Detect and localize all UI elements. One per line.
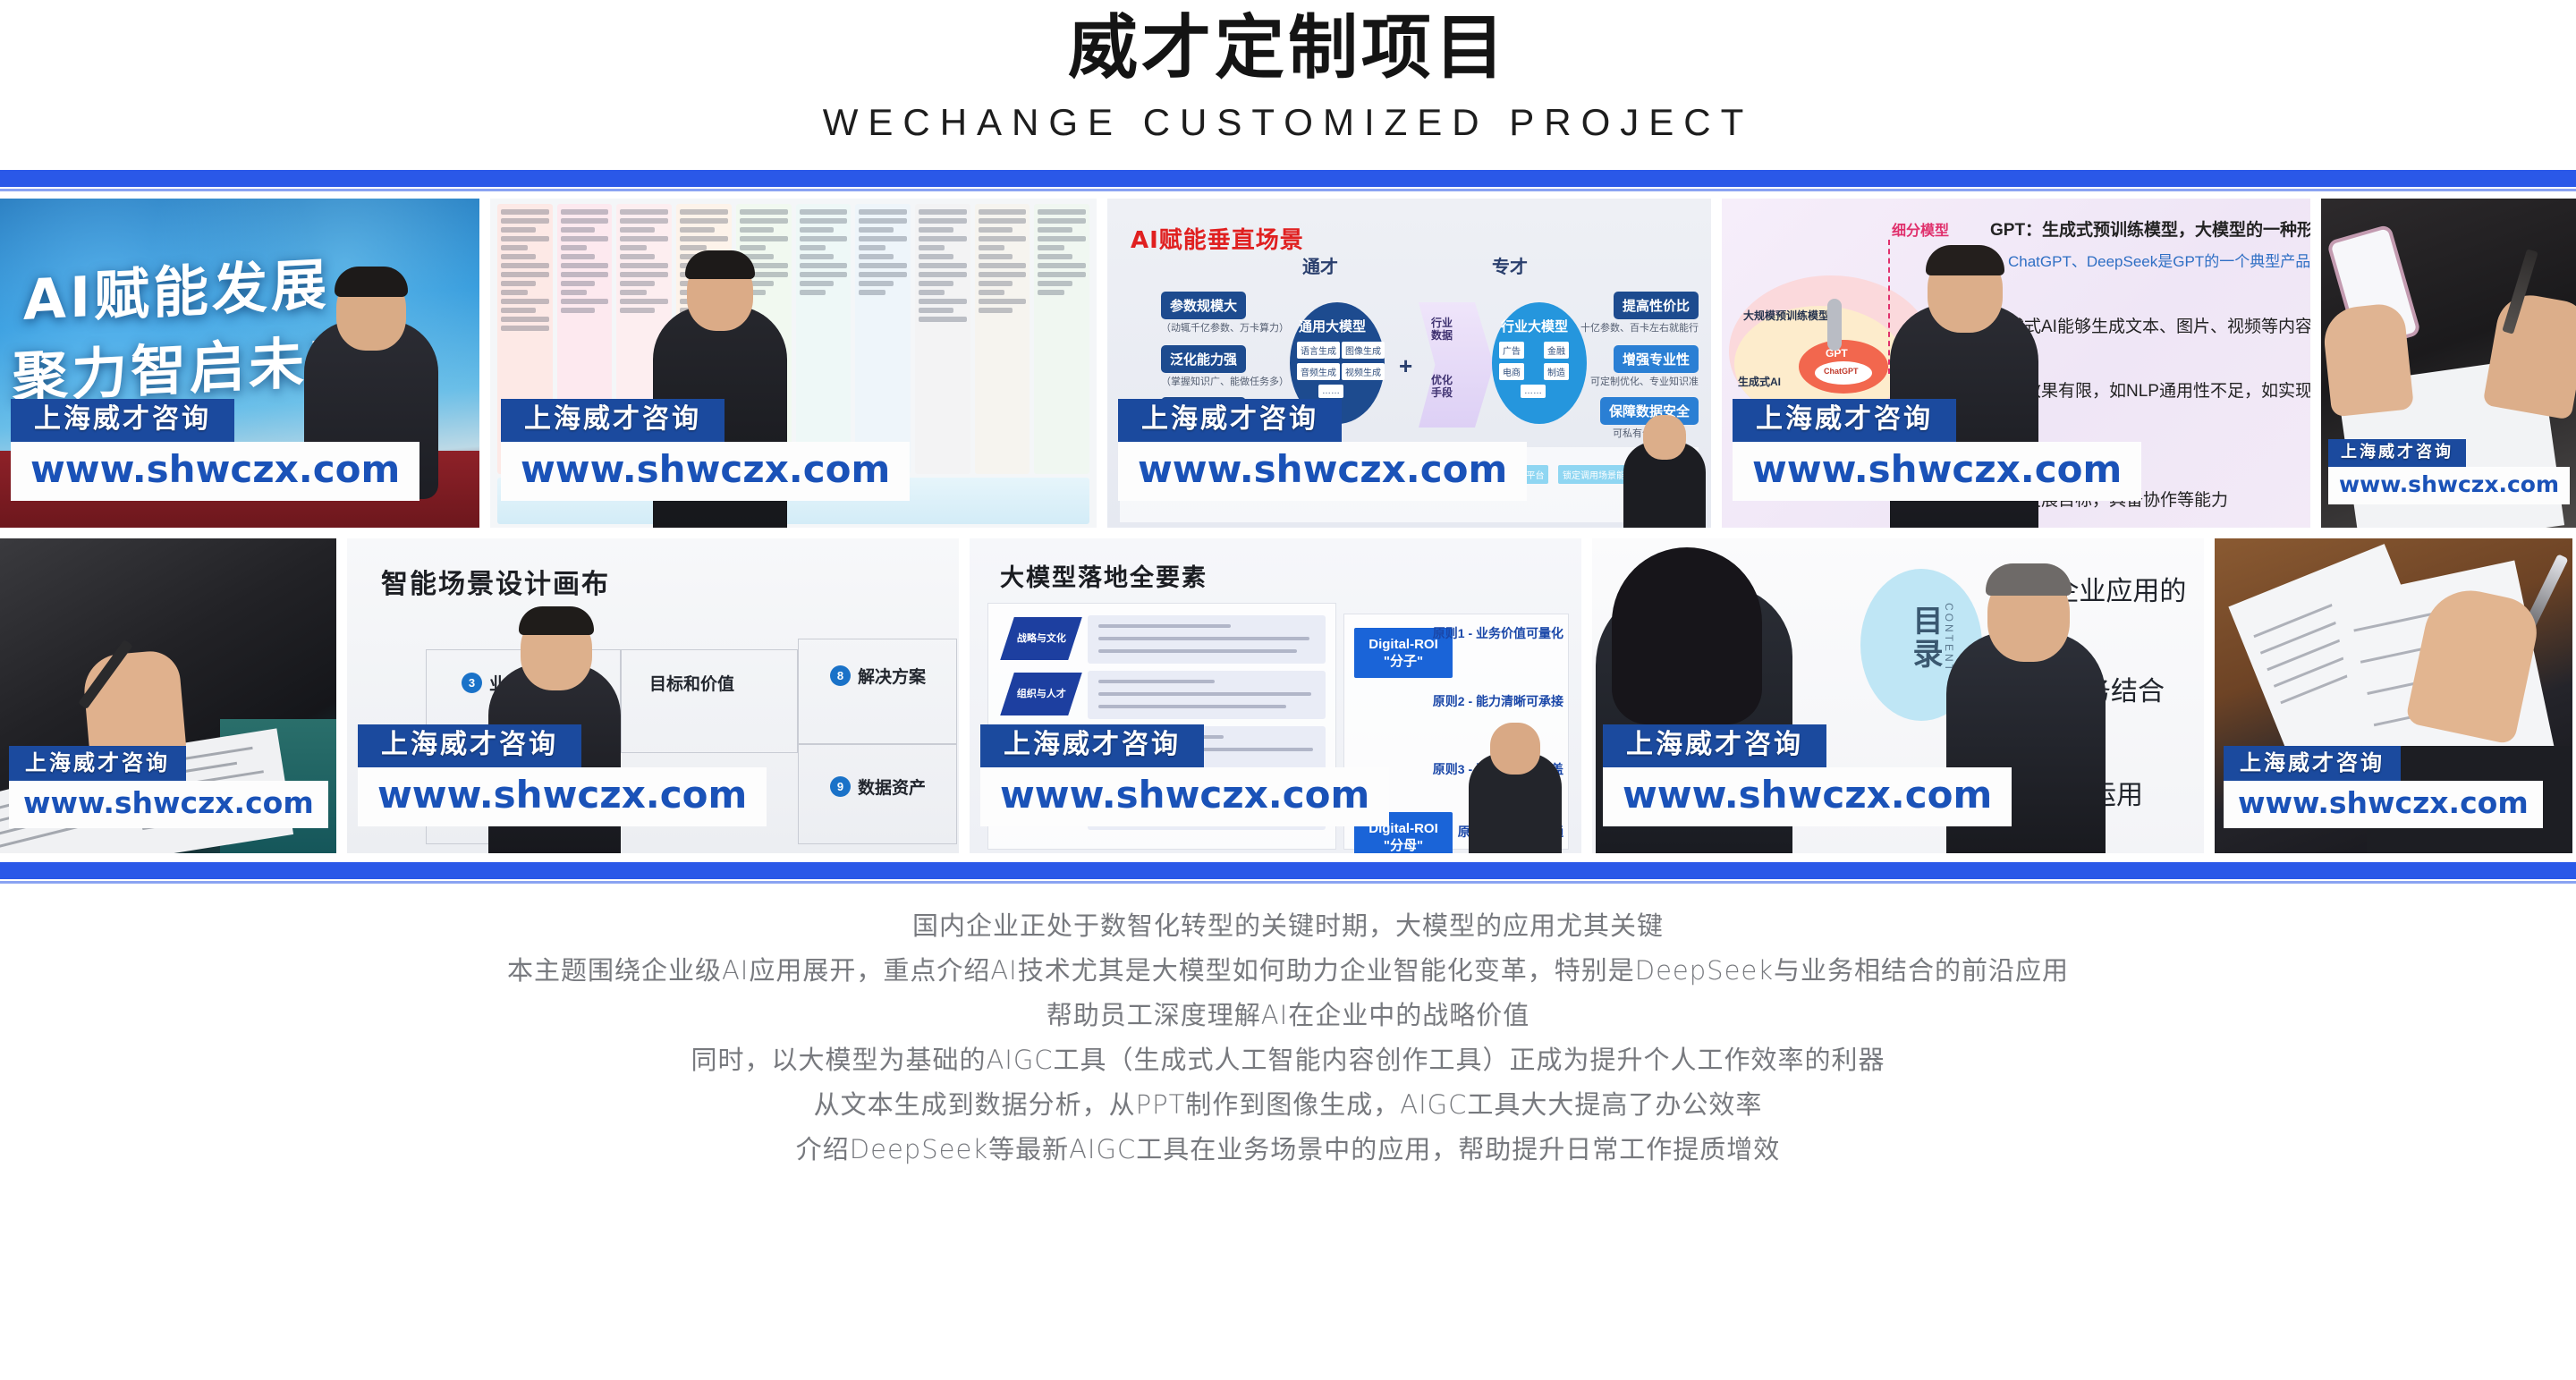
watermark-company: 上海威才咨询 [1733,399,1956,442]
canvas-item: 9 数据资产 [830,775,926,799]
canvas-item-number: 3 [462,673,482,693]
photo-gpt-generative-ai[interactable]: 细分模型 GPT：生成式预训练模型，大模型的一种形态 ChatGPT、DeepS… [1722,199,2310,528]
industry-chip: 金融 [1544,342,1569,359]
canvas-item-number: 9 [830,776,851,797]
description-block: 国内企业正处于数智化转型的关键时期，大模型的应用尤其关键 本主题围绕企业级AI应… [0,884,2576,1172]
watermark: 上海威才咨询 www.shwczx.com [1118,399,1527,501]
watermark-company: 上海威才咨询 [358,724,581,767]
gpt-body-1: 生成式AI能够生成文本、图片、视频等内容，为大模型提供了新的技术手段 [1990,313,2310,337]
slide-title: 大模型落地全要素 [1000,558,1207,593]
description-line-1: 国内企业正处于数智化转型的关键时期，大模型的应用尤其关键 [0,903,2576,948]
left-pill-title: 参数规模大 [1161,292,1246,319]
element-desc [1088,615,1326,664]
photo-ai-vertical-scenarios[interactable]: AI赋能垂直场景 通才 专才 参数规模大 （动辄千亿参数、万卡算力） 泛化能力强… [1107,199,1711,528]
photo-smart-scene-canvas[interactable]: 智能场景设计画布 3 业务场景背景 目标和价值 8 解决方案 [347,538,959,853]
page-header: 威才定制项目 WECHANGE CUSTOMIZED PROJECT [0,0,2576,150]
divider-top [0,170,2576,191]
general-chip: …… [1318,385,1343,398]
middle-label: 优化手段 [1431,374,1458,399]
element-block: 战略与文化 [1000,617,1082,660]
right-pill-sub: 可定制优化、专业知识准 [1590,374,1699,388]
gallery-row-2: 上海威才咨询 www.shwczx.com 智能场景设计画布 3 业务场景背景 [0,538,2576,853]
canvas-item-label: 目标和价值 [649,671,734,695]
photo-handwriting-worksheet[interactable]: 上海威才咨询 www.shwczx.com [2215,538,2572,853]
watermark-url: www.shwczx.com [501,442,910,501]
column-head-specialist: 专才 [1492,252,1528,278]
divider-thick-bar [0,862,2576,879]
general-chip: 视频生成 [1342,363,1385,380]
description-line-3: 帮助员工深度理解AI在企业中的战略价值 [0,993,2576,1037]
watermark-company: 上海威才咨询 [2224,746,2401,781]
photo-llm-landing-elements[interactable]: 大模型落地全要素 战略与文化 组织与人才 [970,538,1581,853]
speaker-figure [1469,753,1562,853]
slide-column [1034,204,1089,474]
description-line-6: 介绍DeepSeek等最新AIGC工具在业务场景中的应用，帮助提升日常工作提质增… [0,1127,2576,1172]
watermark-company: 上海威才咨询 [980,724,1204,767]
watermark-company: 上海威才咨询 [501,399,724,442]
ellipse-label-chatgpt: ChatGPT [1824,367,1859,376]
watermark: 上海威才咨询 www.shwczx.com [9,746,328,828]
watermark: 上海威才咨询 www.shwczx.com [2224,746,2543,828]
slide-column [915,204,970,474]
watermark-company: 上海威才咨询 [11,399,234,442]
watermark: 上海威才咨询 www.shwczx.com [11,399,419,501]
divider-thick-bar [0,170,2576,187]
description-line-2: 本主题围绕企业级AI应用展开，重点介绍AI技术尤其是大模型如何助力企业智能化变革… [0,948,2576,993]
watermark-company: 上海威才咨询 [1118,399,1342,442]
right-pill-title: 增强专业性 [1614,345,1699,373]
column-head-generalist: 通才 [1302,252,1338,278]
microphone-icon [1827,299,1842,351]
general-chip: 图像生成 [1342,342,1385,359]
watermark-url: www.shwczx.com [9,781,328,828]
watermark-url: www.shwczx.com [358,767,767,826]
canvas-item-label: 解决方案 [858,664,926,688]
element-desc [1088,671,1326,719]
canvas-item-number: 8 [830,665,851,686]
watermark-company: 上海威才咨询 [2328,439,2466,467]
hand-holding-phone [2321,302,2414,418]
watermark-url: www.shwczx.com [2224,781,2543,828]
gpt-headline: GPT：生成式预训练模型，大模型的一种形态 [1990,216,2310,241]
gallery-row-1: AI赋能发展 聚力智启未来 上海威才咨询 www.shwczx.com [0,199,2576,528]
canvas-item: 8 解决方案 [830,664,926,688]
general-chip: 语言生成 [1297,342,1340,359]
principle-title: 原则2 - 能力清晰可承接 [1433,692,1563,710]
description-line-4: 同时，以大模型为基础的AIGC工具（生成式人工智能内容创作工具）正成为提升个人工… [0,1037,2576,1082]
slide-column [975,204,1030,474]
watermark-url: www.shwczx.com [11,442,419,501]
industry-chip: 广告 [1499,342,1524,359]
right-pill-title: 提高性价比 [1614,292,1699,319]
watermark: 上海威才咨询 www.shwczx.com [2328,439,2570,504]
canvas-cell [798,639,957,744]
watermark-company: 上海威才咨询 [1603,724,1826,767]
element-block: 组织与人才 [1000,673,1082,715]
divider-thin-bar [0,189,2576,191]
photo-ai-empower-stage[interactable]: AI赋能发展 聚力智启未来 上海威才咨询 www.shwczx.com [0,199,479,528]
hand-writing [2482,290,2576,419]
left-pill-sub: （掌握知识广、能做任务多） [1161,374,1289,388]
watermark-url: www.shwczx.com [1603,767,2012,826]
industry-chip: 电商 [1499,363,1524,380]
watermark: 上海威才咨询 www.shwczx.com [1603,724,2012,826]
general-model-label: 通用大模型 [1299,317,1366,335]
industry-chip: 制造 [1544,363,1569,380]
canvas-item-label: 数据资产 [858,775,926,799]
photo-multi-column-slide[interactable]: 上海威才咨询 www.shwczx.com [490,199,1097,528]
photo-gallery: AI赋能发展 聚力智启未来 上海威才咨询 www.shwczx.com [0,191,2576,853]
slide-title: AI赋能垂直场景 [1131,222,1304,255]
poster-page: 威才定制项目 WECHANGE CUSTOMIZED PROJECT AI赋能发… [0,0,2576,1380]
page-subtitle: WECHANGE CUSTOMIZED PROJECT [0,95,2576,150]
photo-phone-worksheet[interactable]: 上海威才咨询 www.shwczx.com [2321,199,2576,528]
watermark-url: www.shwczx.com [2328,467,2570,504]
photo-hands-writing-documents[interactable]: 上海威才咨询 www.shwczx.com [0,538,336,853]
watermark: 上海威才咨询 www.shwczx.com [980,724,1389,826]
general-chip: 音频生成 [1297,363,1340,380]
divider-thin-bar [0,881,2576,884]
description-line-5: 从文本生成到数据分析，从PPT制作到图像生成，AIGC工具大大提高了办公效率 [0,1082,2576,1127]
industry-chip: …… [1521,385,1546,398]
watermark-url: www.shwczx.com [980,767,1389,826]
watermark-url: www.shwczx.com [1733,442,2141,501]
page-title: 威才定制项目 [0,5,2576,91]
ellipse-label-pretrained: 大规模预训练模型 [1743,308,1829,323]
middle-label: 行业数据 [1431,317,1458,342]
callout-subdivided-model: 细分模型 [1892,218,1949,240]
left-pill-sub: （动辄千亿参数、万卡算力） [1161,320,1289,334]
ellipse-label-genai: 生成式AI [1738,374,1781,389]
content-bubble-label-cn: 目录 [1903,605,1947,671]
gpt-bullet: ChatGPT、DeepSeek是GPT的一个典型产品 [2008,249,2310,271]
photo-content-slide-discussion[interactable]: 目录 CONTENT AI企业应用的 业务结合 运用 上海威才咨询 www.sh… [1592,538,2204,853]
divider-bottom [0,862,2576,884]
principle-title: 原则1 - 业务价值可量化 [1433,624,1563,642]
industry-model-label: 行业大模型 [1501,317,1568,335]
watermark-url: www.shwczx.com [1118,442,1527,501]
watermark: 上海威才咨询 www.shwczx.com [1733,399,2141,501]
watermark: 上海威才咨询 www.shwczx.com [358,724,767,826]
speaker-figure [1623,442,1706,528]
slide-title: 智能场景设计画布 [381,562,610,601]
plus-icon: + [1399,352,1412,380]
watermark-company: 上海威才咨询 [9,746,186,781]
right-pill-sub: 十亿参数、百卡左右就能行 [1580,320,1699,334]
canvas-item: 目标和价值 [649,671,734,695]
left-pill-title: 泛化能力强 [1161,345,1246,373]
watermark: 上海威才咨询 www.shwczx.com [501,399,910,501]
